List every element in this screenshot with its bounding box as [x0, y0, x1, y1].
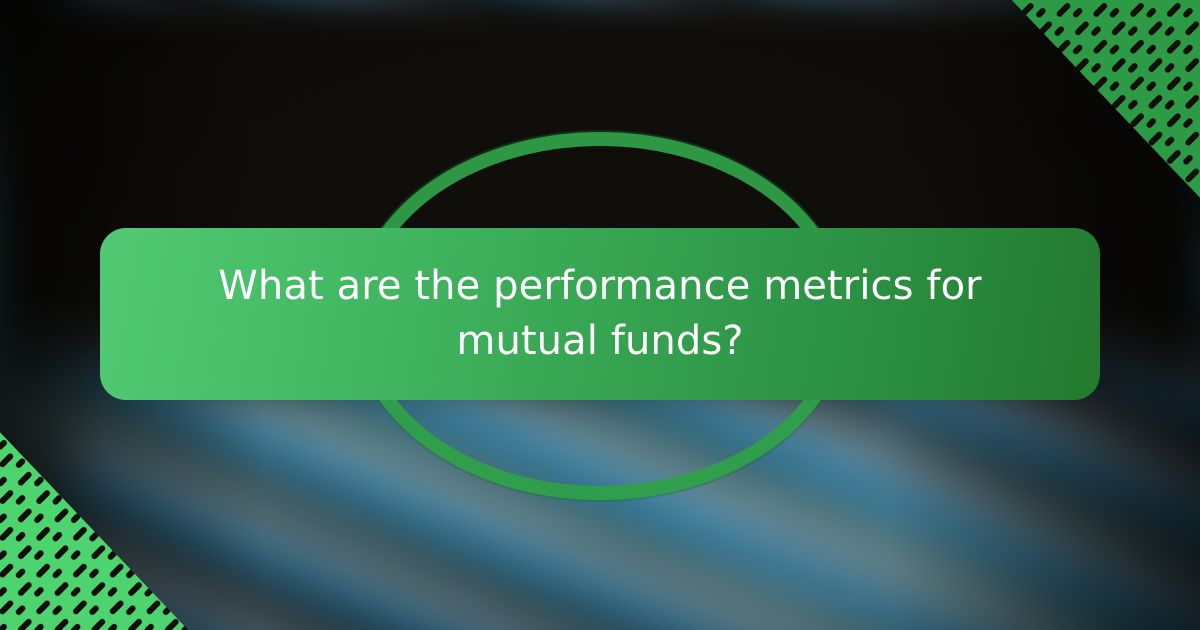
social-card: What are the performance metrics for mut…	[0, 0, 1200, 630]
question-banner: What are the performance metrics for mut…	[100, 228, 1100, 400]
question-text: What are the performance metrics for mut…	[154, 259, 1046, 369]
